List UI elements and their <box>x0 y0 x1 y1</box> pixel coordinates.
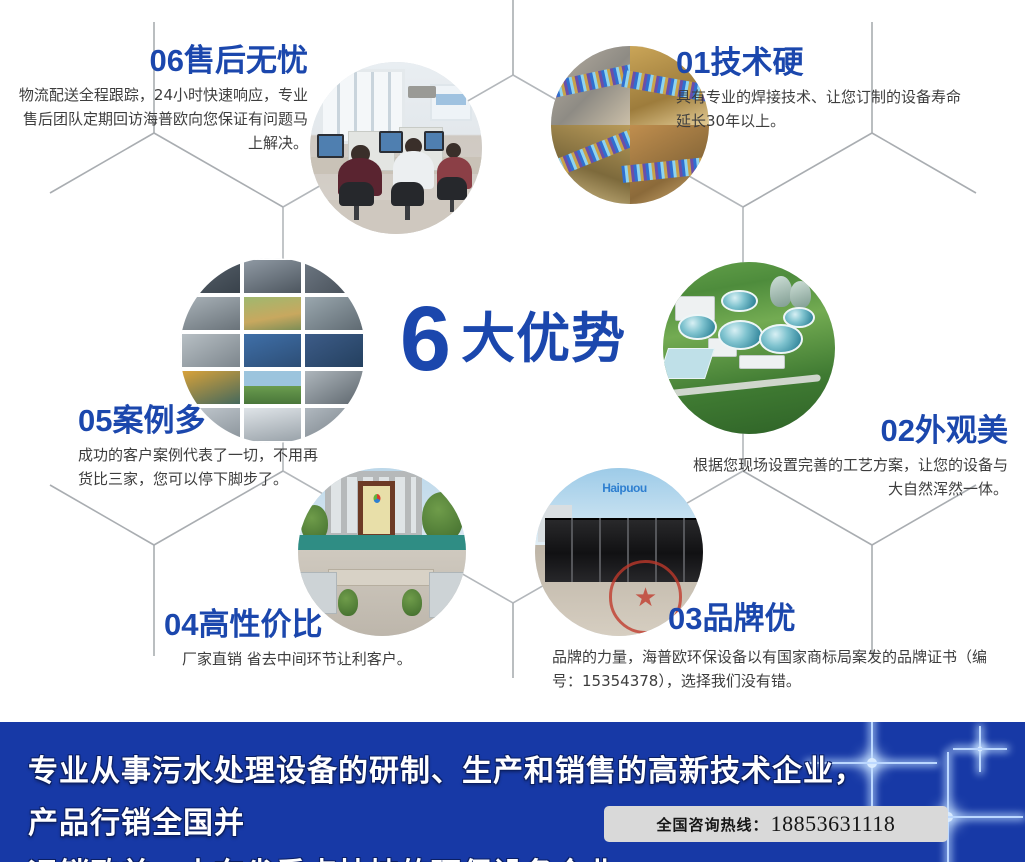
feature-03-body-wrap: 品牌的力量，海普欧环保设备以有国家商标局案发的品牌证书（编号：15354378）… <box>552 645 1004 694</box>
feature-03: 03品牌优 <box>668 602 968 637</box>
feature-03-heading: 03品牌优 <box>668 602 968 637</box>
hotline-number: 18853631118 <box>771 811 896 837</box>
center-number: 6 <box>400 297 449 382</box>
feature-05: 05案例多 成功的客户案例代表了一切，不用再货比三家，您可以停下脚步了。 <box>78 404 328 491</box>
center-suffix: 大优势 <box>461 312 626 366</box>
feature-05-heading: 05案例多 <box>78 404 328 439</box>
feature-04-body: 厂家直销 省去中间环节让利客户。 <box>164 647 414 671</box>
sparkle-icon-3 <box>953 726 1007 772</box>
feature-06-body: 物流配送全程跟踪，24小时快速响应，专业售后团队定期回访海普欧向您保证有问题马上… <box>18 83 308 156</box>
banner-line-2: 远销欧美，山东省重点扶持的环保设备企业。 <box>28 849 888 862</box>
feature-02-photo <box>663 262 835 434</box>
feature-05-body: 成功的客户案例代表了一切，不用再货比三家，您可以停下脚步了。 <box>78 443 328 492</box>
feature-03-photo-logo: Haipuou <box>602 481 647 495</box>
feature-06-heading: 06售后无忧 <box>18 44 308 79</box>
feature-04-heading: 04高性价比 <box>164 608 414 643</box>
feature-03-body: 品牌的力量，海普欧环保设备以有国家商标局案发的品牌证书（编号：15354378）… <box>552 645 1004 694</box>
hotline-label: 全国咨询热线： <box>657 814 769 835</box>
banner-text: 专业从事污水处理设备的研制、生产和销售的高新技术企业，产品行销全国并 远销欧美，… <box>28 746 888 862</box>
feature-06: 06售后无忧 物流配送全程跟踪，24小时快速响应，专业售后团队定期回访海普欧向您… <box>18 44 308 156</box>
hotline-box[interactable]: 全国咨询热线： 18853631118 <box>604 806 948 842</box>
infographic-canvas: 6 大优势 <box>0 0 1025 862</box>
feature-04: 04高性价比 厂家直销 省去中间环节让利客户。 <box>164 608 414 671</box>
center-label: 6 大优势 <box>382 286 644 392</box>
feature-02-heading: 02外观美 <box>690 414 1008 449</box>
feature-01: 01技术硬 具有专业的焊接技术、让您订制的设备寿命延长30年以上。 <box>676 46 962 133</box>
feature-02-body: 根据您现场设置完善的工艺方案，让您的设备与大自然浑然一体。 <box>690 453 1008 502</box>
feature-06-photo <box>310 62 482 234</box>
feature-02: 02外观美 根据您现场设置完善的工艺方案，让您的设备与大自然浑然一体。 <box>690 414 1008 501</box>
feature-01-heading: 01技术硬 <box>676 46 962 81</box>
feature-01-body: 具有专业的焊接技术、让您订制的设备寿命延长30年以上。 <box>676 85 962 134</box>
